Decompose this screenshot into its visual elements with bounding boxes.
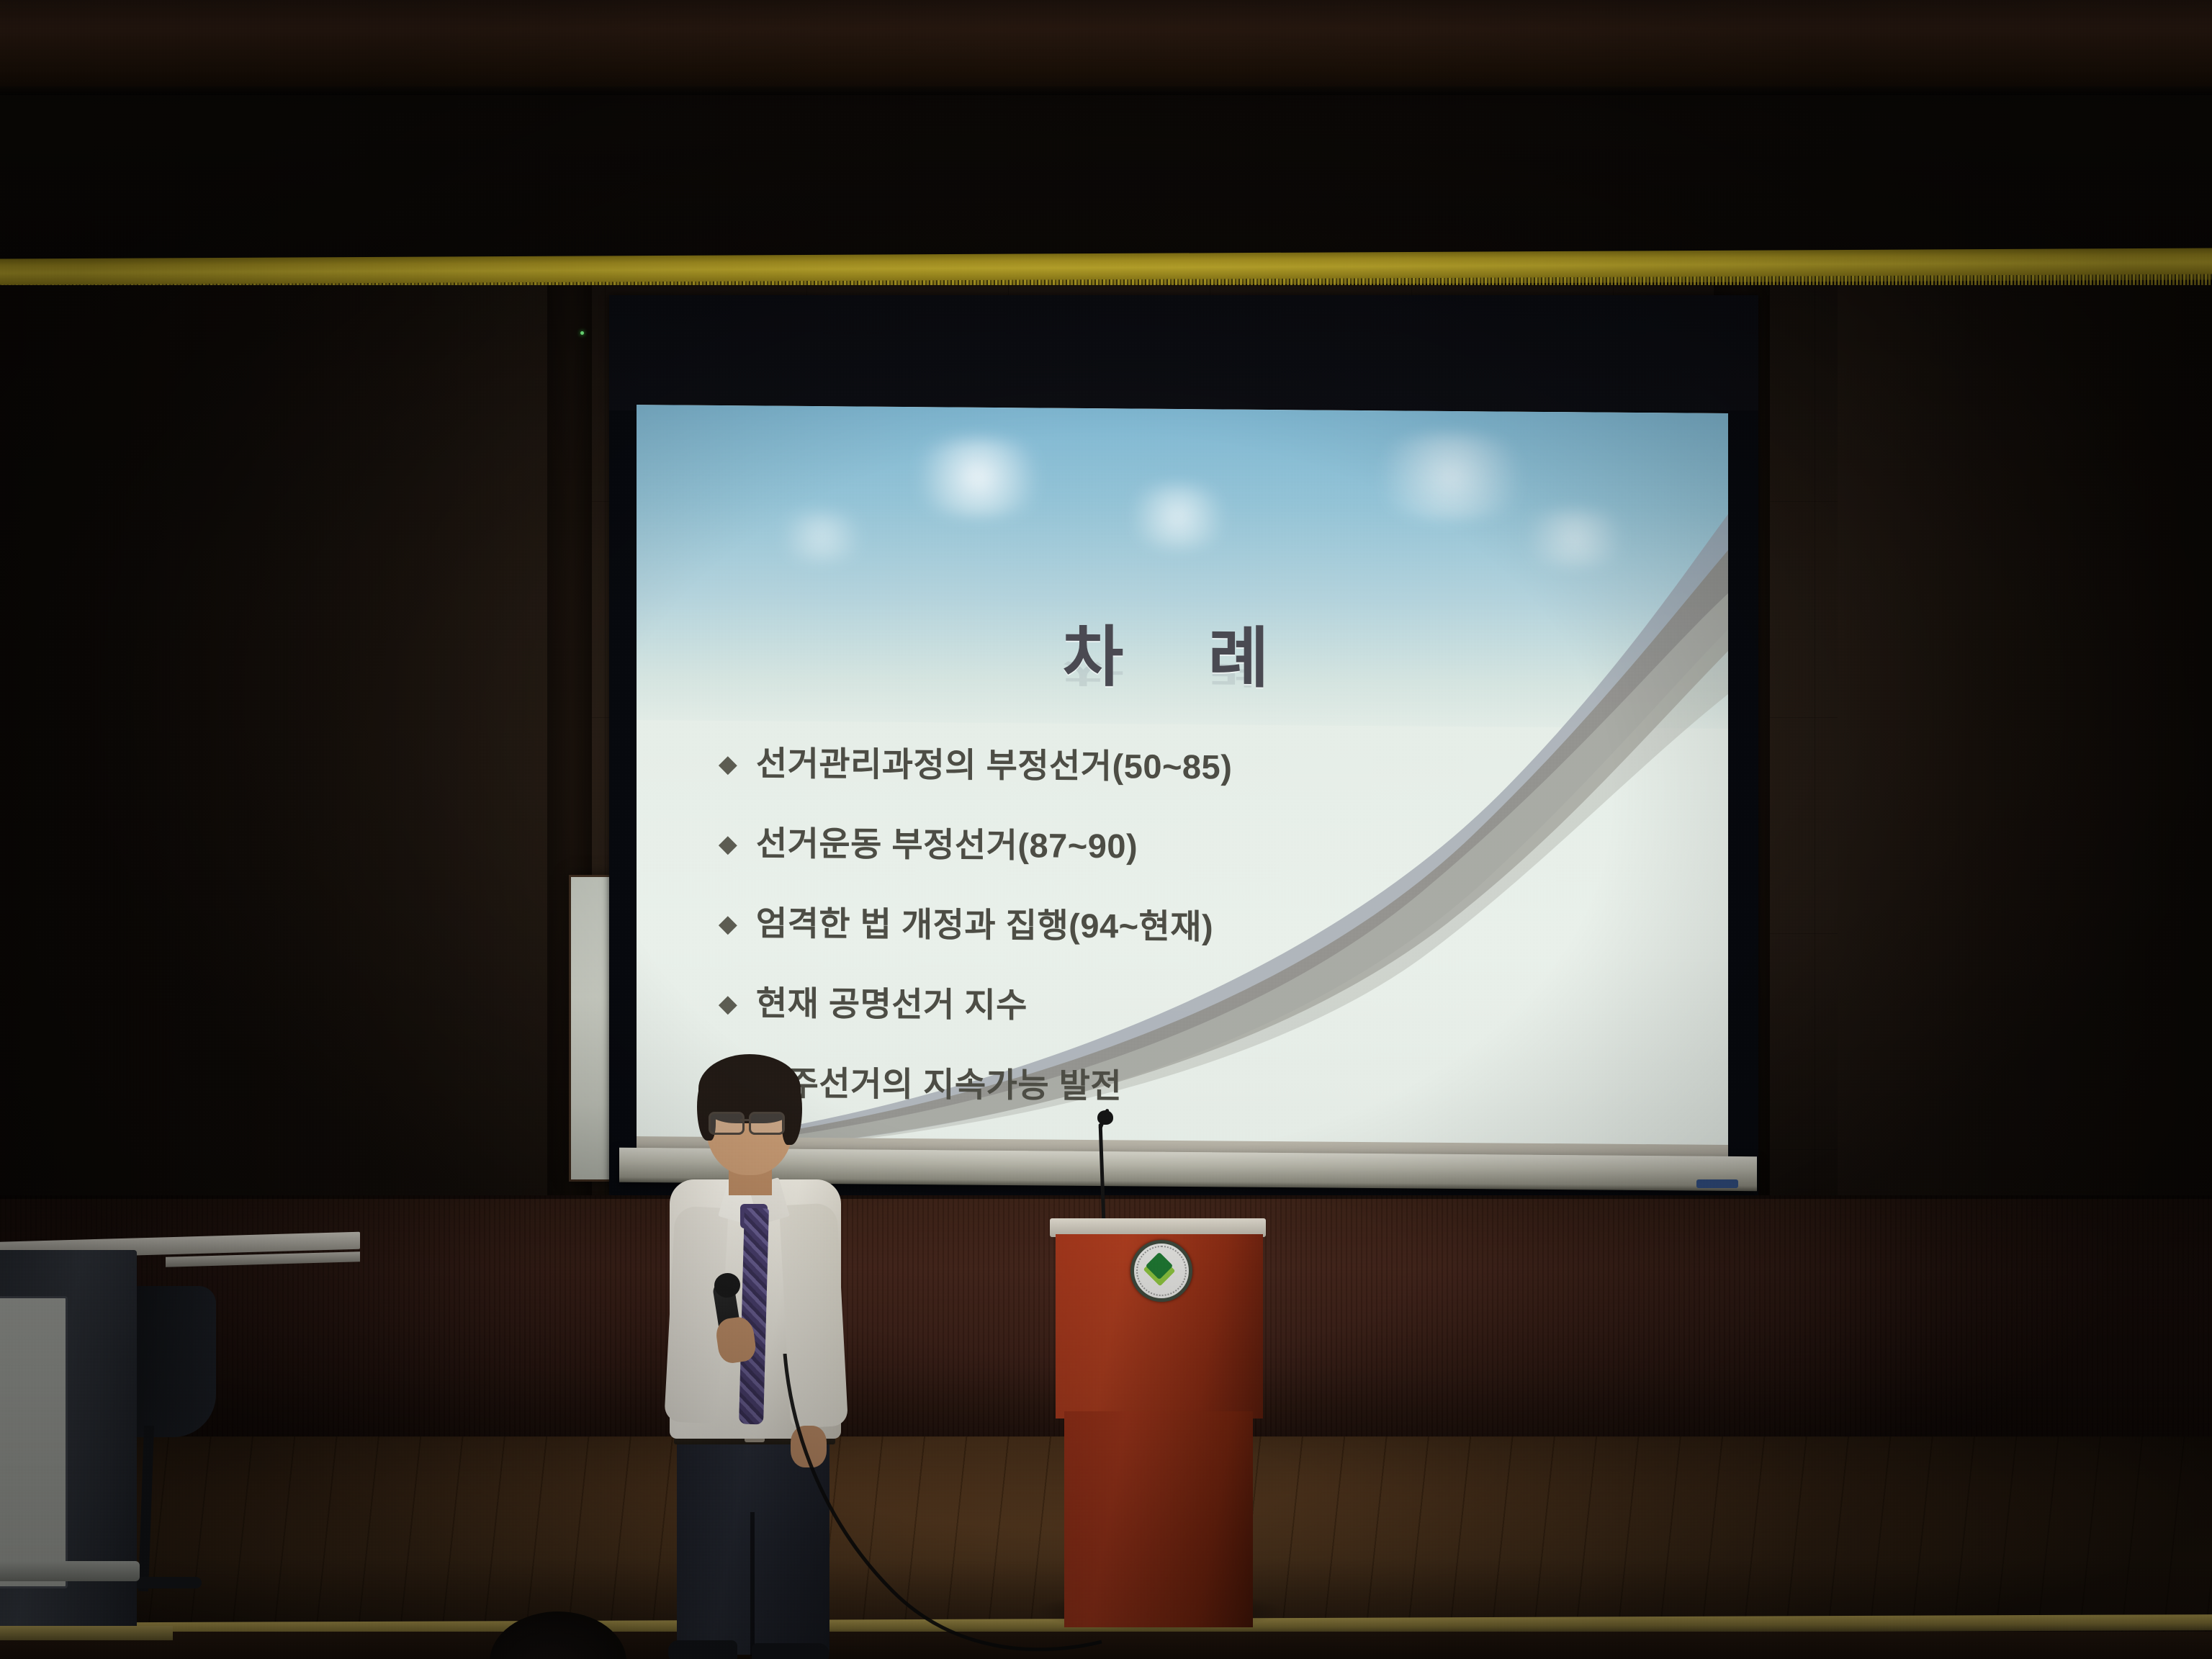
av-cart-foot: [0, 1561, 140, 1581]
presenter-shoe-left: [668, 1640, 737, 1659]
auditorium-scene: 차 례 차 례 ◆ 선거관리과정의 부정선거(50~85) ◆ 선거운동 부정선…: [0, 0, 2212, 1659]
bullet-text: 선거관리과정의 부정선거(50~85): [756, 736, 1233, 789]
eyeglasses-bridge: [740, 1119, 749, 1121]
bullet-text: 선거운동 부정선거(87~90): [756, 816, 1138, 868]
list-item: ◆ 선거관리과정의 부정선거(50~85): [719, 735, 1658, 792]
emblem-ring: [1136, 1246, 1187, 1296]
eyeglasses-lens-left-icon: [709, 1112, 745, 1135]
presenter-hair-side-right: [782, 1079, 802, 1145]
av-cart-front-panel: [0, 1296, 68, 1588]
slide-title: 차 례: [637, 600, 1728, 704]
list-item: ◆ 현재 공명선거 지수: [719, 975, 1658, 1032]
cloud-wisp: [1117, 483, 1239, 549]
ceiling-beam-edge: [0, 86, 2212, 95]
cloud-wisp: [899, 437, 1057, 518]
bullet-text: 현재 공명선거 지수: [756, 976, 1028, 1028]
status-led-icon: [580, 331, 584, 335]
projection-screen-top-mask: [609, 295, 1758, 410]
office-chair-back: [131, 1286, 216, 1437]
eyeglasses-lens-right-icon: [749, 1112, 785, 1135]
diamond-bullet-icon: ◆: [719, 912, 737, 936]
screen-roller-knob: [1696, 1179, 1738, 1188]
microphone-cable: [742, 1354, 1116, 1659]
diamond-bullet-icon: ◆: [719, 992, 737, 1016]
diamond-bullet-icon: ◆: [719, 832, 737, 856]
institution-emblem-icon: [1130, 1240, 1192, 1302]
cloud-wisp: [768, 511, 876, 562]
ceiling-wood-beam: [0, 0, 2212, 95]
av-cart-stage-lip: [0, 1626, 173, 1640]
list-item: ◆ 엄격한 법 개정과 집행(94~현재): [719, 895, 1658, 952]
list-item: ◆ 선거운동 부정선거(87~90): [719, 815, 1658, 872]
diamond-bullet-icon: ◆: [719, 752, 737, 776]
wainscot-seam: [0, 1195, 2212, 1199]
bullet-text: 엄격한 법 개정과 집행(94~현재): [756, 896, 1213, 949]
